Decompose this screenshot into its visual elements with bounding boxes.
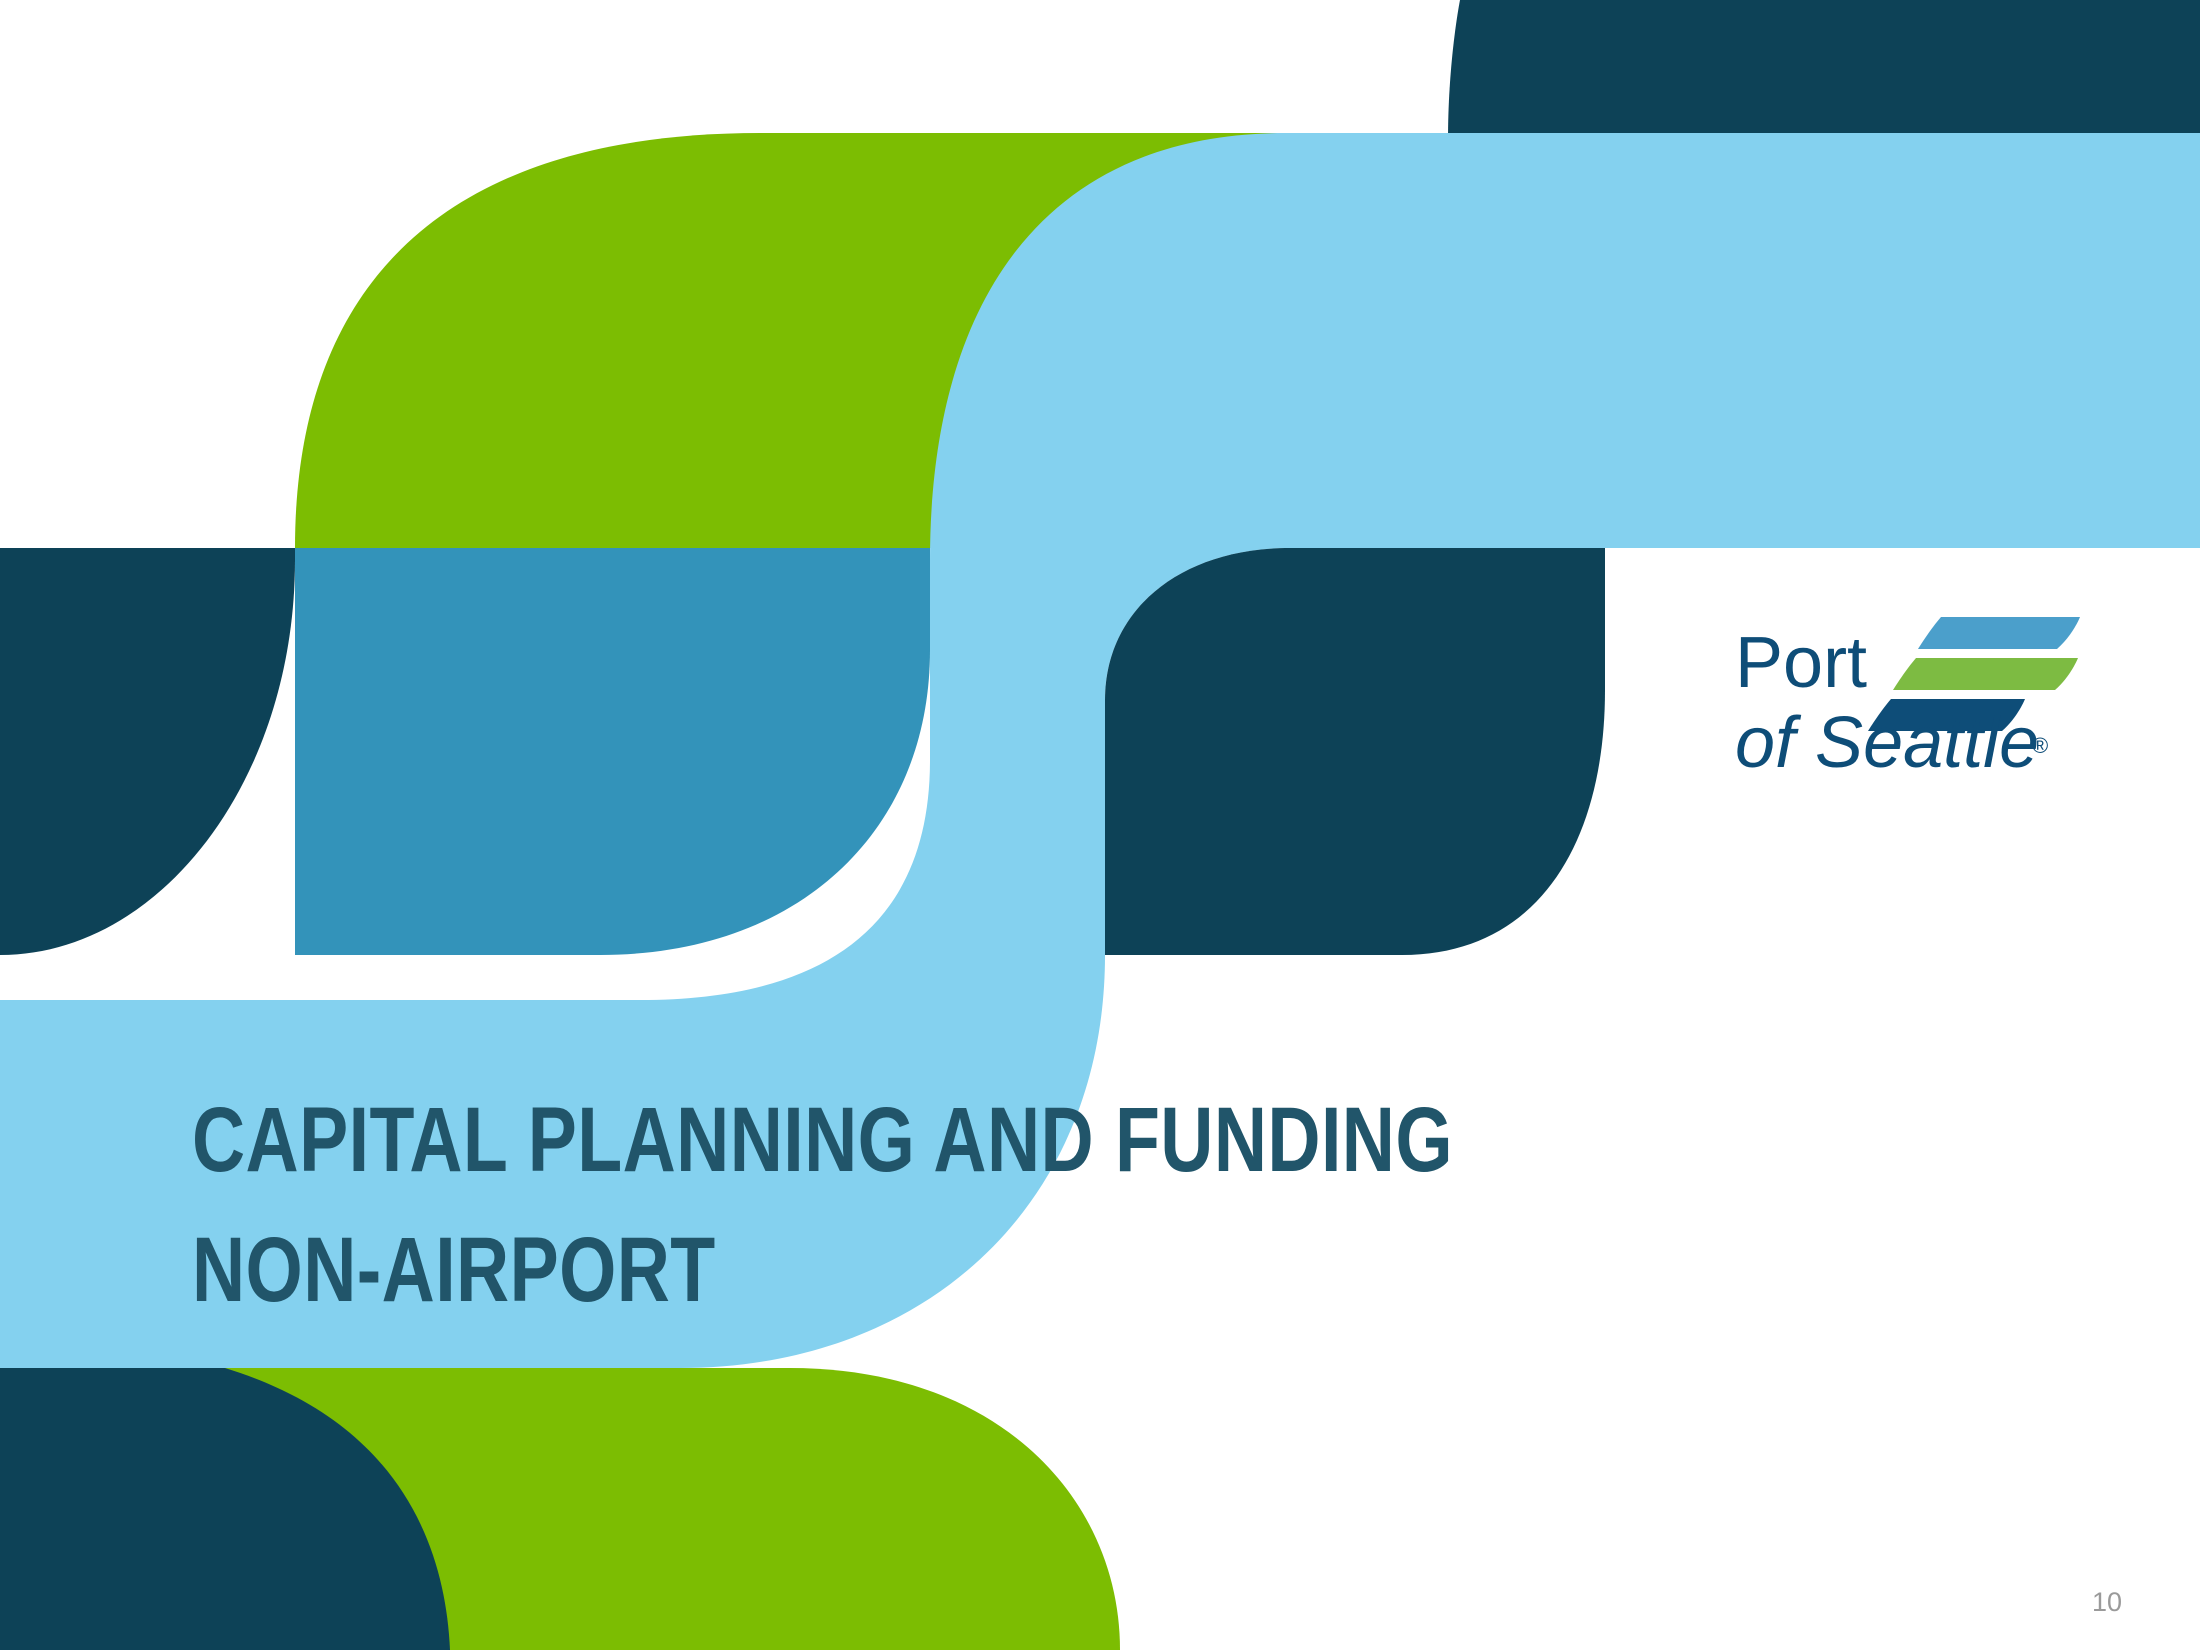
page-number: 10 [2092, 1587, 2122, 1618]
slide-canvas: Port of Seattle ® CAPITAL PLANNING AND F… [0, 0, 2200, 1650]
slide-title: CAPITAL PLANNING AND FUNDING NON-AIRPORT [192, 1075, 1692, 1335]
logo-registered-icon: ® [2032, 733, 2048, 758]
slide-title-line-1: CAPITAL PLANNING AND FUNDING [192, 1075, 1392, 1205]
logo-artwork: Port of Seattle ® [1735, 605, 2085, 790]
logo-word-of-seattle: of Seattle [1735, 703, 2039, 783]
logo-word-port: Port [1735, 623, 1867, 703]
port-of-seattle-logo: Port of Seattle ® [1735, 605, 2085, 790]
background-wave-graphic [0, 0, 2200, 1650]
navy-left-leaf [0, 548, 295, 955]
navy-center-leaf [1105, 548, 1605, 955]
teal-overlap-region [295, 548, 930, 955]
slide-title-line-2: NON-AIRPORT [192, 1205, 1392, 1335]
